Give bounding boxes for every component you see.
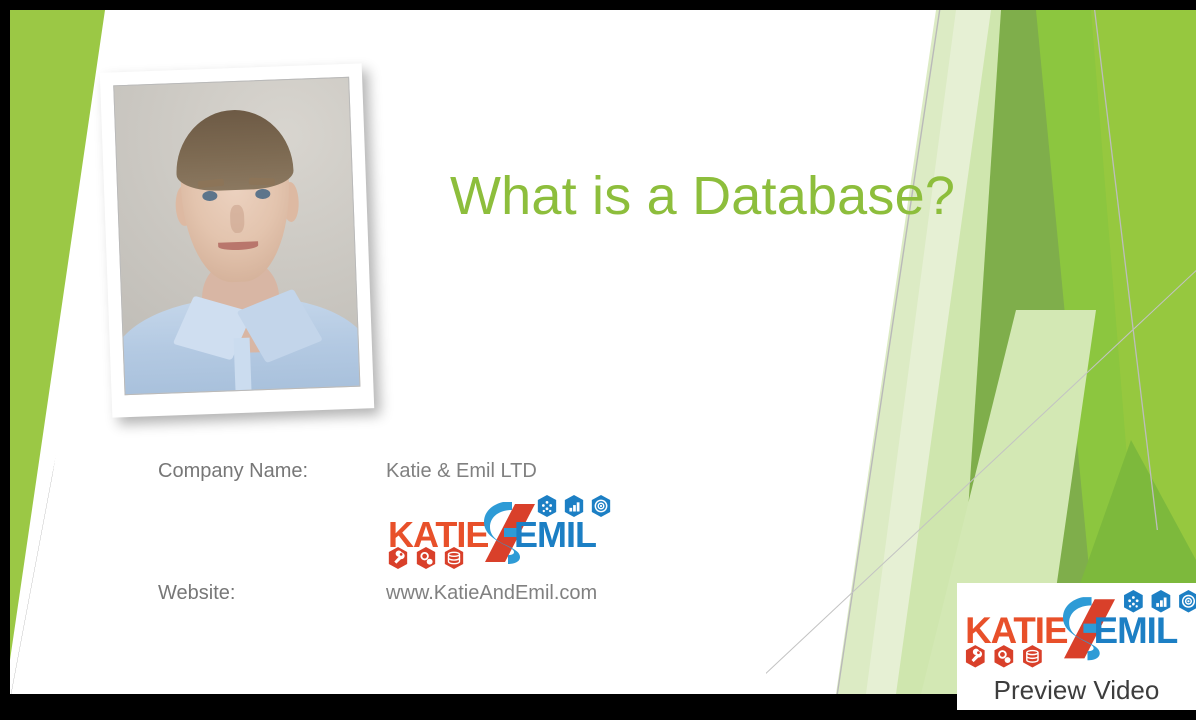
slide-title: What is a Database? [450,165,955,227]
photo-placket [234,337,252,390]
watermark-katie-and-emil-logo: KATIE EMIL [961,589,1196,667]
info-row-website: Website: www.KatieAndEmil.com [158,582,698,605]
photo-eyebrow-right [249,178,275,186]
target-hexagon-icon [1177,589,1196,613]
watermark-caption: Preview Video [957,675,1196,706]
video-player-frame: What is a Database? Company Name: Katie … [0,0,1196,720]
database-hexagon-icon [443,546,465,570]
info-value-company: Katie & Emil LTD [386,460,537,483]
katie-and-emil-logo: KATIE EMIL [384,494,614,568]
watermark-logo-word-emil: EMIL [1094,609,1178,652]
database-hexagon-icon [1021,644,1043,668]
wrench-hexagon-icon [964,644,986,668]
logo-word-emil: EMIL [514,514,596,556]
portrait-photo [113,77,360,395]
info-value-website: www.KatieAndEmil.com [386,582,597,605]
logo-hex-row-bottom [387,546,465,570]
photo-nose [230,205,245,233]
gear-hexagon-icon [415,546,437,570]
wrench-hexagon-icon [387,546,409,570]
watermark-hex-row-bottom [964,644,1044,668]
company-info-block: Company Name: Katie & Emil LTD [158,460,698,496]
info-label-company: Company Name: [158,460,308,483]
preview-video-watermark: KATIE EMIL [957,583,1196,710]
gear-hexagon-icon [993,644,1015,668]
info-row-company: Company Name: Katie & Emil LTD [158,460,698,496]
info-label-website: Website: [158,582,235,604]
portrait-photo-frame [100,63,374,417]
